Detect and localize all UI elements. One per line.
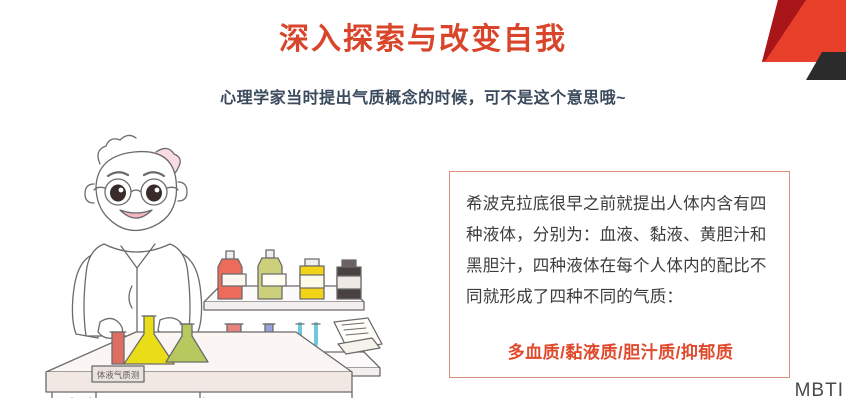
explanation-body-text: 希波克拉底很早之前就提出人体内含有四种液体，分别为：血液、黏液、黄胆汁和黑胆汁，… (466, 189, 778, 313)
slide-title: 深入探索与改变自我 (0, 14, 846, 58)
lab-scientist-illustration: 体液气质测 (8, 126, 388, 398)
bench-label-text: 体液气质测 (97, 370, 140, 380)
temperament-types-highlight: 多血质/黏液质/胆汁质/抑郁质 (450, 338, 791, 363)
slide-canvas: 深入探索与改变自我 心理学家当时提出气质概念的时候，可不是这个意思哦~ (0, 0, 846, 405)
watermark-label: MBTI (795, 380, 844, 402)
slide-subtitle: 心理学家当时提出气质概念的时候，可不是这个意思哦~ (0, 84, 846, 108)
explanation-card: 希波克拉底很早之前就提出人体内含有四种液体，分别为：血液、黏液、黄胆汁和黑胆汁，… (449, 171, 790, 378)
